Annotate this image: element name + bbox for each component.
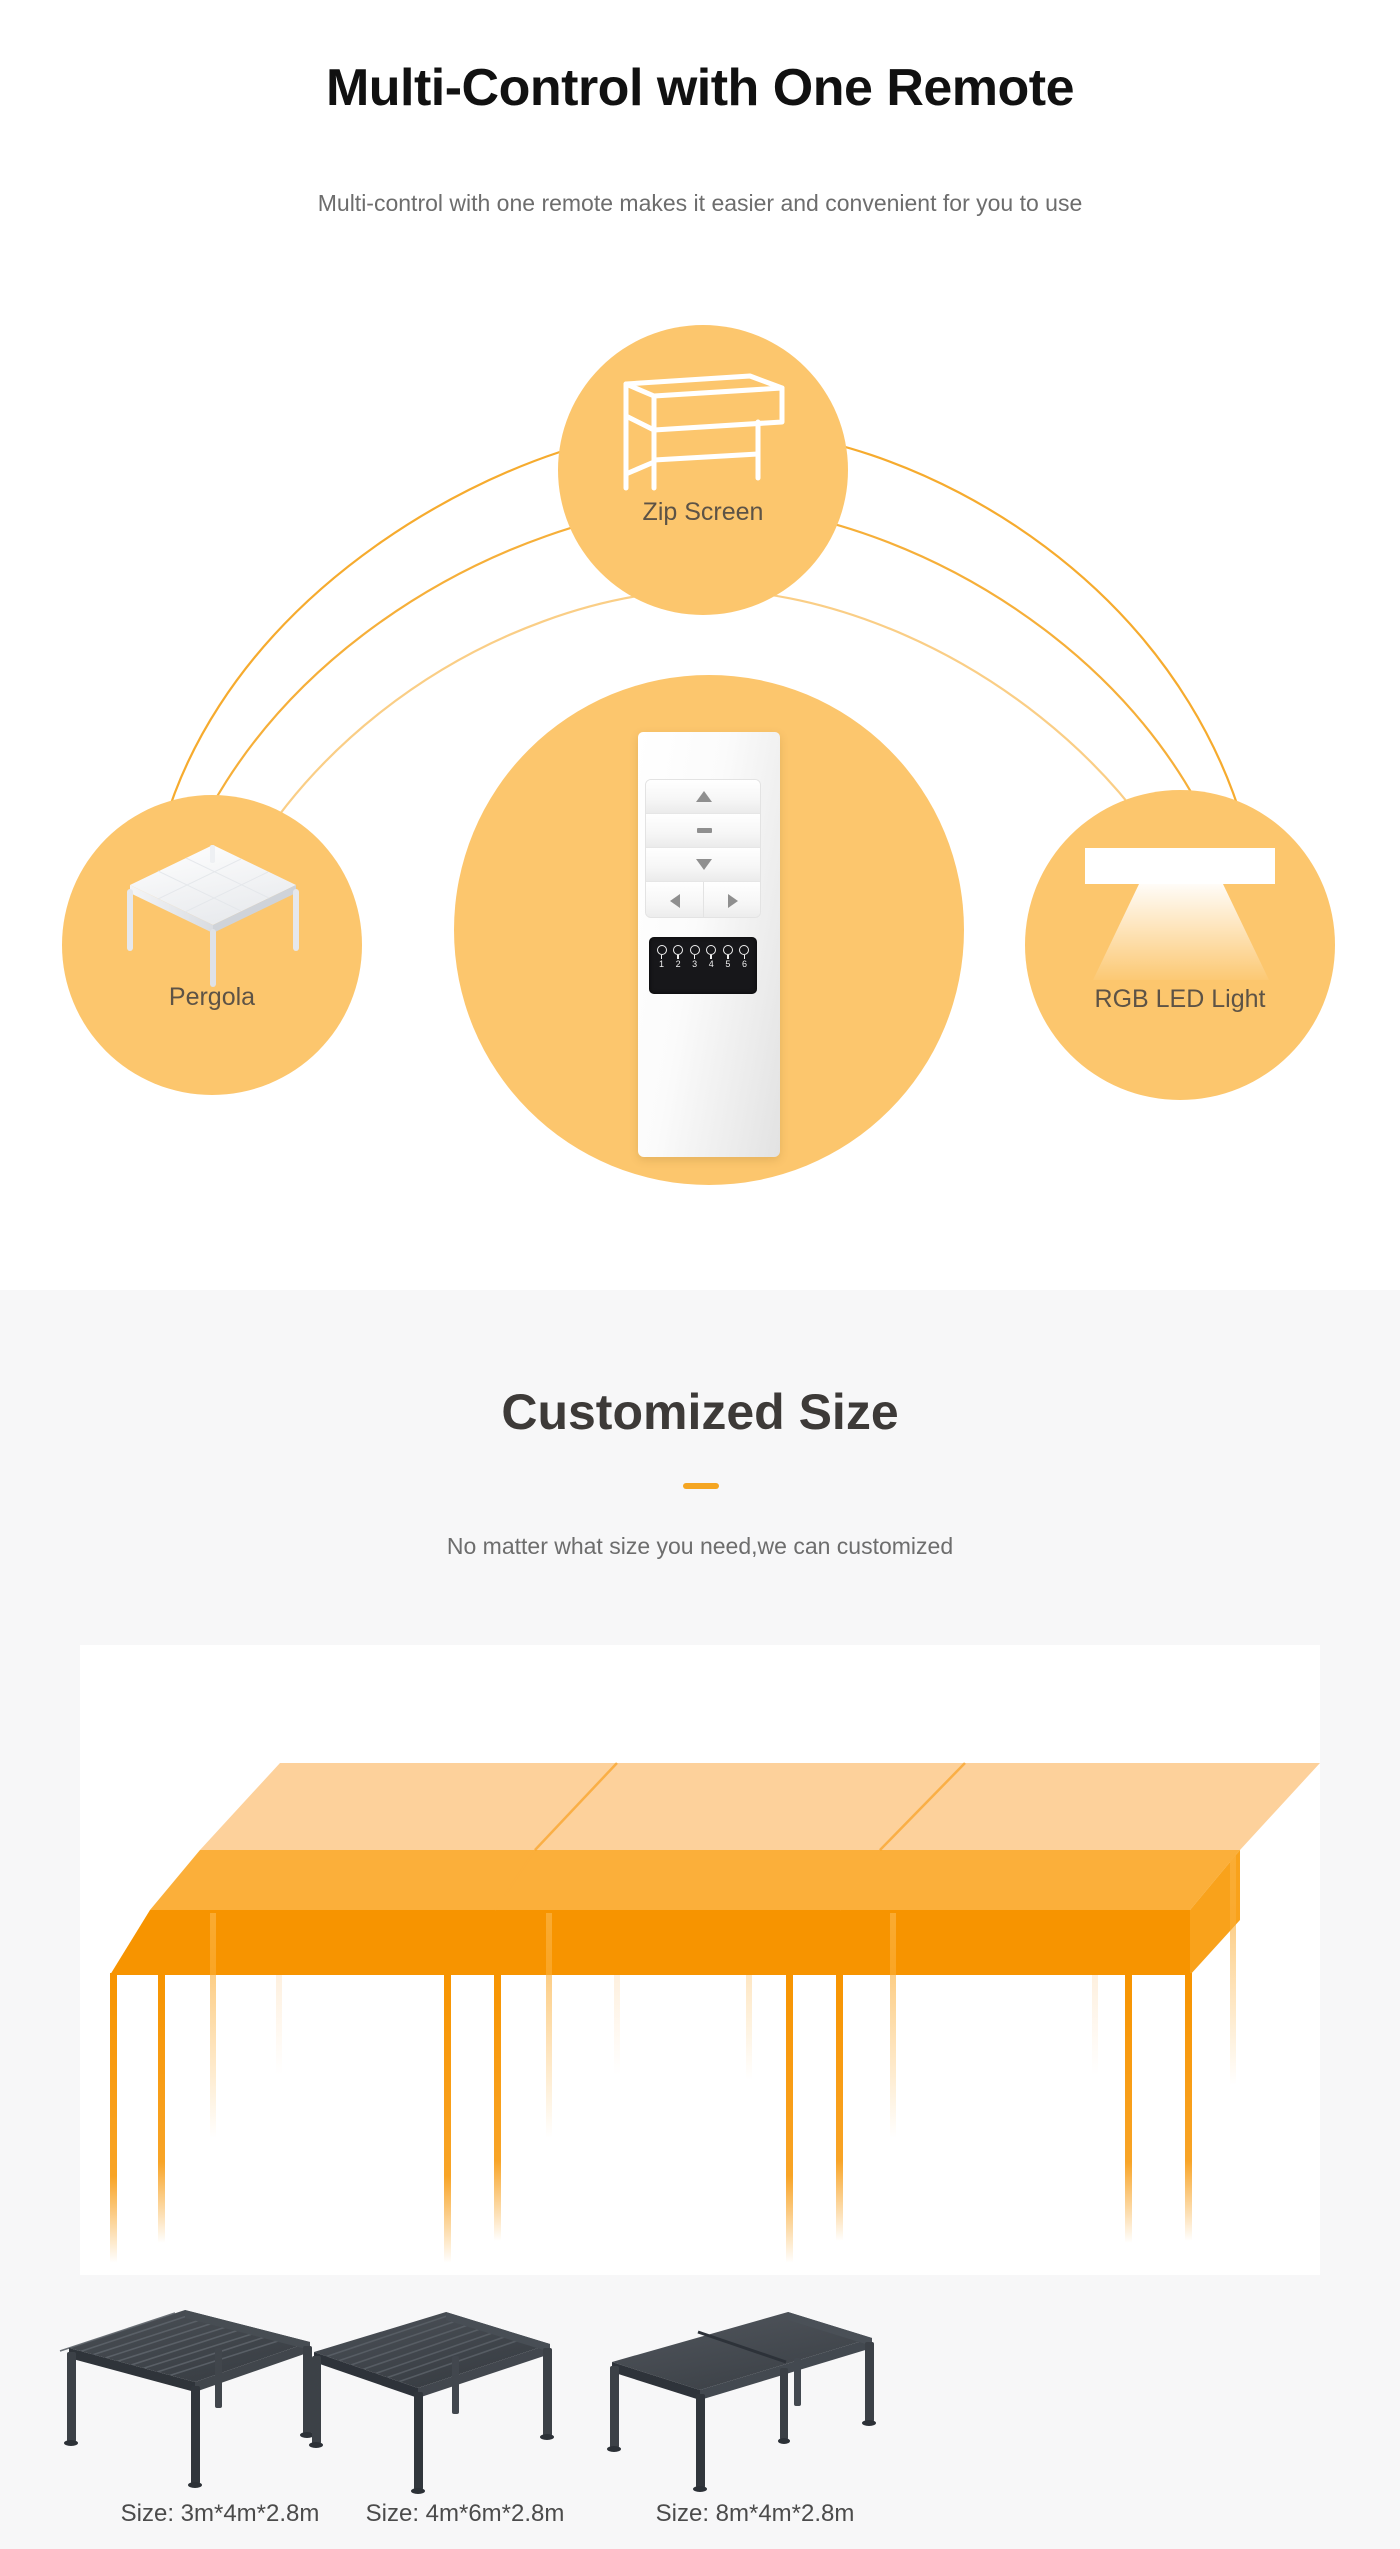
multi-control-diagram: 1 2 3 4 bbox=[0, 290, 1400, 1290]
channel-ring-icon bbox=[706, 945, 716, 955]
triangle-down-icon bbox=[696, 859, 712, 870]
product-label: Size: 4m*6m*2.8m bbox=[300, 2500, 630, 2528]
channel-indicator[interactable]: 2 bbox=[672, 945, 685, 969]
channel-indicator[interactable]: 1 bbox=[655, 945, 668, 969]
hero-illustration-panel bbox=[80, 1645, 1320, 2275]
page-title: Multi-Control with One Remote bbox=[0, 58, 1400, 118]
customized-size-section: Customized Size No matter what size you … bbox=[0, 1290, 1400, 2549]
remote-right-button[interactable] bbox=[704, 882, 761, 918]
node-label: Pergola bbox=[62, 983, 362, 1012]
node-rgb-led-light[interactable]: RGB LED Light bbox=[1025, 790, 1335, 1100]
channel-ring-icon bbox=[739, 945, 749, 955]
node-zip-screen[interactable]: Zip Screen bbox=[558, 325, 848, 615]
channel-number: 2 bbox=[676, 959, 681, 969]
channel-number: 4 bbox=[709, 959, 714, 969]
triangle-left-icon bbox=[670, 894, 680, 908]
channel-indicator[interactable]: 5 bbox=[721, 945, 734, 969]
triangle-right-icon bbox=[728, 894, 738, 908]
node-label: Zip Screen bbox=[558, 498, 848, 527]
section-subtitle: No matter what size you need,we can cust… bbox=[0, 1533, 1400, 1560]
channel-ring-icon bbox=[657, 945, 667, 955]
channel-ring-icon bbox=[690, 945, 700, 955]
product-label: Size: 8m*4m*2.8m bbox=[590, 2500, 920, 2528]
channel-indicator[interactable]: 3 bbox=[688, 945, 701, 969]
louvered-pergola-4x6-icon bbox=[300, 2300, 630, 2495]
triangle-up-icon bbox=[696, 791, 712, 802]
channel-indicator[interactable]: 4 bbox=[705, 945, 718, 969]
node-label: RGB LED Light bbox=[1025, 985, 1335, 1014]
remote-channel-display: 1 2 3 4 bbox=[649, 937, 757, 994]
section-title: Customized Size bbox=[0, 1383, 1400, 1441]
channel-number: 6 bbox=[742, 959, 747, 969]
louvered-pergola-8x4-icon bbox=[590, 2300, 920, 2495]
channel-number: 1 bbox=[659, 959, 664, 969]
channel-ring-icon bbox=[673, 945, 683, 955]
zip-screen-icon bbox=[618, 370, 790, 495]
page-subtitle: Multi-control with one remote makes it e… bbox=[0, 190, 1400, 217]
multi-bay-pergola-illustration bbox=[80, 1645, 1320, 2275]
remote-stop-button[interactable] bbox=[646, 814, 761, 848]
remote-down-button[interactable] bbox=[646, 848, 761, 882]
channel-number: 3 bbox=[692, 959, 697, 969]
channel-indicator-row: 1 2 3 4 bbox=[655, 945, 751, 987]
channel-ring-icon bbox=[723, 945, 733, 955]
rgb-led-light-icon bbox=[1073, 830, 1288, 985]
remote-up-button[interactable] bbox=[646, 780, 761, 814]
multi-control-section: Multi-Control with One Remote Multi-cont… bbox=[0, 0, 1400, 1290]
remote-keypad bbox=[645, 779, 761, 918]
channel-indicator[interactable]: 6 bbox=[738, 945, 751, 969]
remote-control-device[interactable]: 1 2 3 4 bbox=[638, 732, 780, 1157]
node-pergola[interactable]: Pergola bbox=[62, 795, 362, 1095]
title-divider bbox=[683, 1483, 719, 1489]
pergola-icon bbox=[118, 837, 308, 987]
dash-icon bbox=[697, 828, 712, 833]
channel-number: 5 bbox=[725, 959, 730, 969]
product-size-list: Size: 3m*4m*2.8m bbox=[0, 2300, 1400, 2540]
remote-left-button[interactable] bbox=[646, 882, 704, 918]
